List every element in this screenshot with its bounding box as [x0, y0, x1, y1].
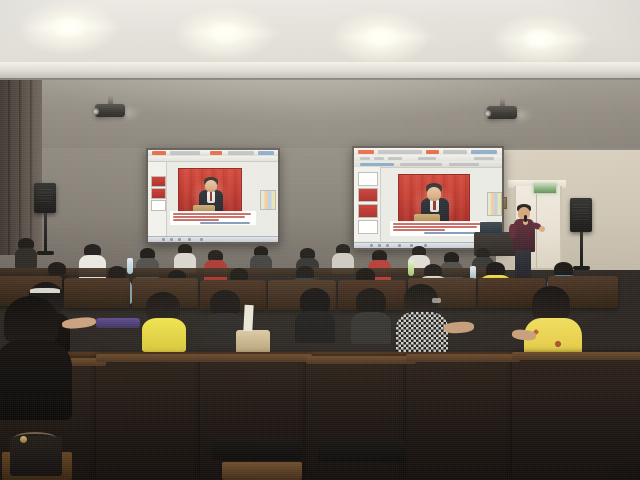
- slide-thumbnail: [358, 204, 378, 218]
- taskbar-left: [148, 236, 278, 242]
- speaker-base-right: [573, 266, 590, 270]
- water-bottle: [408, 260, 414, 276]
- arm: [444, 321, 475, 334]
- slide-thumbnail: [151, 188, 166, 199]
- slide-thumbnail-pane-left: [148, 162, 167, 236]
- table-row: [512, 354, 640, 480]
- slide-color-grid-left: [260, 190, 276, 210]
- slide-thumbnail: [358, 220, 378, 234]
- floor-speaker-left: [34, 183, 56, 213]
- presenter-arm-left: [509, 224, 516, 238]
- slide-video-frame-left: [178, 168, 242, 212]
- wall-curtain-left: [0, 80, 42, 255]
- chair-armrest: [96, 354, 206, 362]
- slide-thumbnail: [358, 172, 378, 186]
- emergency-exit-sign: [533, 183, 557, 194]
- projector-lens-right: [484, 110, 491, 117]
- paper-sheet: [243, 305, 253, 331]
- presenter-legs: [515, 250, 531, 280]
- table-row: [406, 356, 518, 480]
- water-bottle: [127, 258, 133, 274]
- slide-thumbnail: [151, 200, 166, 211]
- chair-seat-cushion: [318, 440, 406, 462]
- chair-armrest: [406, 354, 520, 362]
- floor-speaker-right: [570, 198, 592, 232]
- ceiling-light-streak-4: [492, 34, 602, 44]
- slide-color-grid-right: [487, 192, 502, 216]
- slide-thumbnail: [358, 188, 378, 202]
- table-row: [96, 356, 204, 480]
- ceiling-light-streak-2: [176, 28, 288, 38]
- slide-caption-band-left: [170, 211, 256, 225]
- bag-buckle-icon: [20, 436, 27, 443]
- speaker-base-left: [37, 251, 54, 255]
- handbag: [236, 330, 270, 354]
- chair-armrest: [512, 352, 640, 360]
- handbag: [96, 318, 140, 328]
- ceiling-light-streak-3: [332, 32, 444, 42]
- projection-screen-left: [146, 148, 280, 244]
- headband: [30, 288, 60, 293]
- speaker-stand-left: [44, 213, 47, 253]
- laptop-base: [478, 233, 504, 236]
- chair-leg-brace: [222, 462, 302, 480]
- chair-armrest: [200, 354, 312, 362]
- ceiling-light-streak-1: [18, 22, 128, 32]
- projector-lens-left: [92, 108, 99, 115]
- speaker-stand-right: [580, 232, 583, 268]
- chair-seat-cushion: [212, 438, 302, 460]
- presenter-hand: [539, 226, 545, 232]
- slide-video-frame-right: [398, 174, 470, 222]
- lecture-hall-photo: Lecture hall audience watching dual proj…: [0, 0, 640, 480]
- table-row: [64, 278, 130, 308]
- slide-thumbnail: [151, 176, 166, 187]
- chair-armrest: [306, 356, 416, 364]
- glasses: [432, 298, 441, 303]
- handheld-microphone: [524, 215, 527, 222]
- slide-caption-band-right: [390, 221, 486, 236]
